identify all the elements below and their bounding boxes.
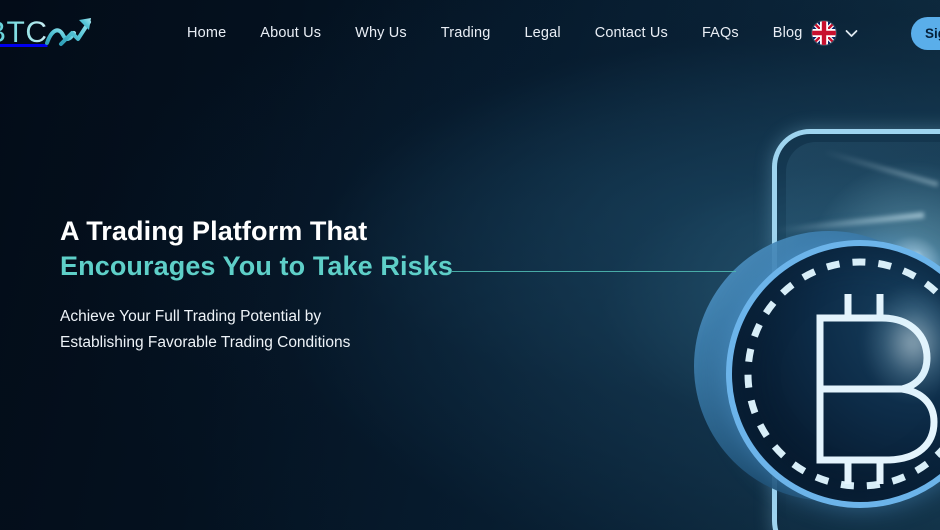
upward-trend-arrow-icon xyxy=(45,13,95,53)
nav-item-legal[interactable]: Legal xyxy=(507,0,577,66)
nav-item-faqs[interactable]: FAQs xyxy=(685,0,756,66)
brand-logo[interactable]: BTC xyxy=(0,11,95,55)
signup-button[interactable]: Sign Up xyxy=(911,17,940,50)
light-ray xyxy=(834,301,932,396)
nav-item-trading[interactable]: Trading xyxy=(424,0,508,66)
light-ray xyxy=(822,149,939,187)
chevron-down-icon xyxy=(845,29,858,38)
main-navigation[interactable]: Home About Us Why Us Trading Legal Conta… xyxy=(170,0,819,66)
site-header: BTC Home About Us Why Us Trading Legal xyxy=(0,0,940,66)
hero-heading: A Trading Platform That Encourages You t… xyxy=(60,214,560,284)
light-ray xyxy=(771,252,922,323)
hero-section: A Trading Platform That Encourages You t… xyxy=(60,214,560,356)
language-selector[interactable] xyxy=(812,21,858,45)
phone-frame-icon xyxy=(772,129,940,530)
bitcoin-coin-icon xyxy=(726,240,940,508)
light-ray xyxy=(775,212,925,234)
nav-item-about-us[interactable]: About Us xyxy=(243,0,338,66)
hero-subtext-line-1: Achieve Your Full Trading Potential by xyxy=(60,304,560,330)
brand-logo-text: BTC xyxy=(0,18,48,48)
coin-backplate xyxy=(694,231,940,501)
phone-frame-glow xyxy=(786,142,940,530)
nav-item-blog[interactable]: Blog xyxy=(756,0,820,66)
hero-subtext: Achieve Your Full Trading Potential by E… xyxy=(60,304,560,356)
hero-subtext-line-2: Establishing Favorable Trading Condition… xyxy=(60,330,560,356)
coin-dashed-ring-icon xyxy=(742,256,940,492)
uk-flag-icon xyxy=(812,21,836,45)
nav-item-contact-us[interactable]: Contact Us xyxy=(578,0,685,66)
hero-heading-line-1: A Trading Platform That xyxy=(60,216,367,246)
hero-heading-line-2: Encourages You to Take Risks xyxy=(60,249,560,284)
light-burst-icon xyxy=(742,96,940,436)
nav-item-home[interactable]: Home xyxy=(170,0,243,66)
bitcoin-symbol-icon xyxy=(782,282,940,492)
coin-sheen xyxy=(848,268,940,418)
nav-item-why-us[interactable]: Why Us xyxy=(338,0,424,66)
page-root: BTC Home About Us Why Us Trading Legal xyxy=(0,0,940,530)
